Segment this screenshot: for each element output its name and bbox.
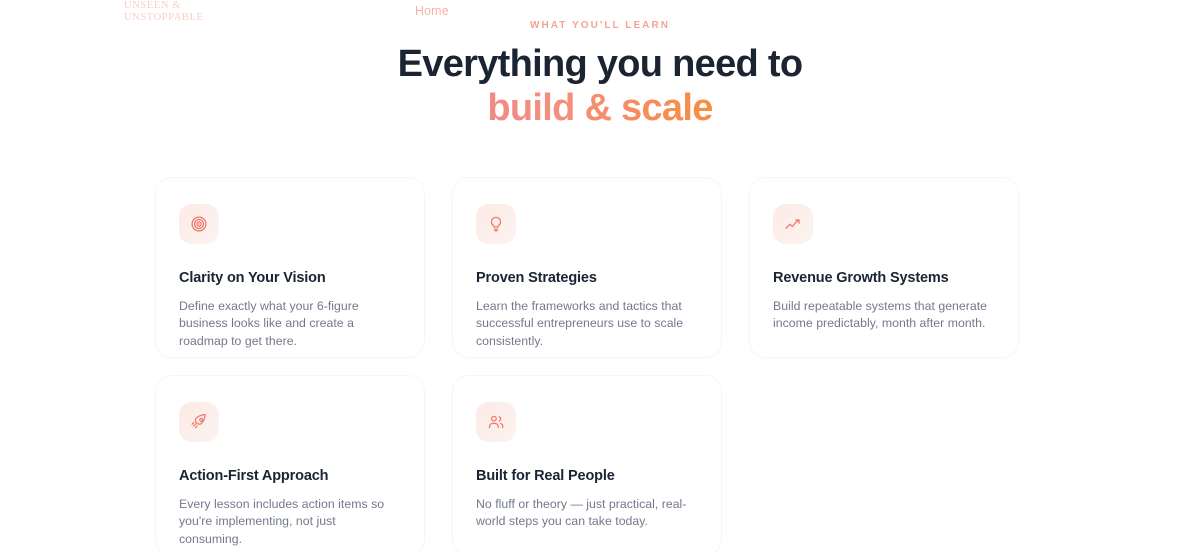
feature-card-title: Revenue Growth Systems <box>773 269 994 287</box>
rocket-icon <box>179 402 219 442</box>
feature-card-title: Built for Real People <box>476 467 697 485</box>
section-eyebrow: WHAT YOU'LL LEARN <box>0 20 1200 31</box>
feature-card-title: Action-First Approach <box>179 467 400 485</box>
feature-card[interactable]: Revenue Growth Systems Build repeatable … <box>749 177 1019 358</box>
nav-link-home[interactable]: Home <box>415 4 449 18</box>
feature-cards-grid: Clarity on Your Vision Define exactly wh… <box>155 177 1025 552</box>
feature-card[interactable]: Action-First Approach Every lesson inclu… <box>155 375 425 552</box>
page-title: Everything you need to build & scale <box>0 42 1200 130</box>
feature-card-description: Every lesson includes action items so yo… <box>179 496 400 548</box>
feature-card-description: Learn the frameworks and tactics that su… <box>476 298 697 350</box>
feature-card[interactable]: Clarity on Your Vision Define exactly wh… <box>155 177 425 358</box>
feature-card[interactable]: Proven Strategies Learn the frameworks a… <box>452 177 722 358</box>
headline-line-2-gradient: build & scale <box>487 86 712 130</box>
headline-line-1: Everything you need to <box>398 43 803 85</box>
main-navigation: Home <box>415 4 449 18</box>
target-icon <box>179 204 219 244</box>
feature-card-placeholder <box>749 375 1019 552</box>
learn-section-page: UNSEEN & UNSTOPPABLE Home WHAT YOU'LL LE… <box>0 0 1200 552</box>
feature-card-title: Proven Strategies <box>476 269 697 287</box>
feature-card-description: Build repeatable systems that generate i… <box>773 298 994 333</box>
lightbulb-icon <box>476 204 516 244</box>
feature-card-description: Define exactly what your 6-figure busine… <box>179 298 400 350</box>
feature-card-title: Clarity on Your Vision <box>179 269 400 287</box>
trending-up-icon <box>773 204 813 244</box>
feature-card-description: No fluff or theory — just practical, rea… <box>476 496 697 531</box>
users-icon <box>476 402 516 442</box>
feature-card[interactable]: Built for Real People No fluff or theory… <box>452 375 722 552</box>
